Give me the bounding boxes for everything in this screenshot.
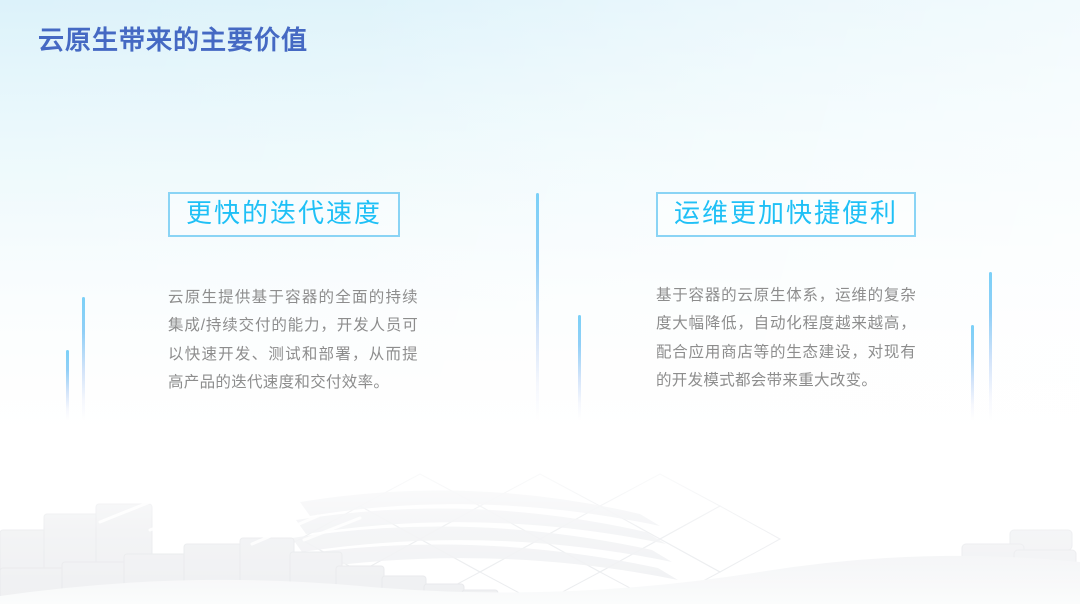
column-heading-faster-iteration: 更快的迭代速度 [168,192,400,237]
accent-line-4 [578,315,581,420]
accent-line-6 [989,272,992,420]
page-title: 云原生带来的主要价值 [38,20,308,57]
accent-line-1 [66,350,69,420]
value-column-right: 运维更加快捷便利 基于容器的云原生体系，运维的复杂度大幅降低，自动化程度越来越高… [656,192,916,396]
value-column-left: 更快的迭代速度 云原生提供基于容器的全面的持续集成/持续交付的能力，开发人员可以… [168,192,418,398]
column-heading-easier-ops: 运维更加快捷便利 [656,192,916,237]
column-body-easier-ops: 基于容器的云原生体系，运维的复杂度大幅降低，自动化程度越来越高，配合应用商店等的… [656,282,916,396]
accent-line-3 [536,193,539,420]
background-landscape-art [0,444,1080,604]
column-body-faster-iteration: 云原生提供基于容器的全面的持续集成/持续交付的能力，开发人员可以快速开发、测试和… [168,284,418,398]
slide-root: 云原生带来的主要价值 更快的迭代速度 云原生提供基于容器的全面的持续集成/持续交… [0,0,1080,604]
accent-line-5 [971,325,974,420]
accent-line-2 [82,297,85,420]
